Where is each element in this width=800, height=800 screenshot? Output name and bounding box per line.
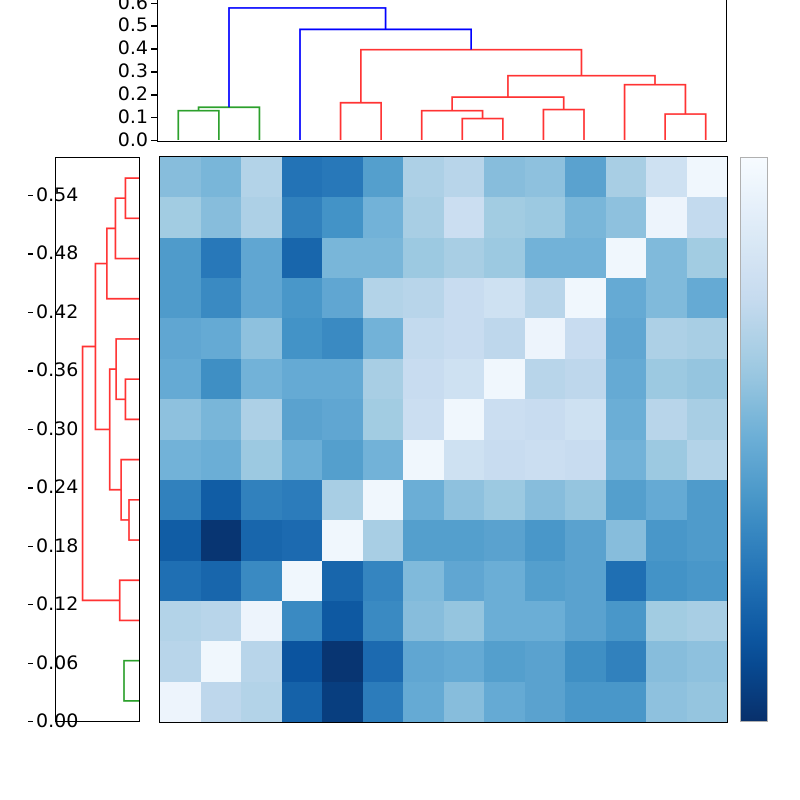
heatmap-cell <box>646 359 687 399</box>
heatmap-cell <box>484 601 525 641</box>
heatmap-cell <box>444 682 485 722</box>
heatmap-cell <box>403 318 444 358</box>
heatmap-cell <box>363 601 404 641</box>
heatmap-cell <box>525 601 566 641</box>
colorbar-tick-mark <box>28 721 33 722</box>
heatmap-cell <box>241 157 282 197</box>
heatmap-cell <box>646 561 687 601</box>
dendrogram-link <box>452 97 564 111</box>
heatmap-cell <box>322 641 363 681</box>
heatmap-cell <box>484 682 525 722</box>
heatmap-cell <box>403 359 444 399</box>
colorbar-tick-mark <box>28 487 33 488</box>
heatmap-cell <box>687 318 728 358</box>
heatmap-cell <box>484 399 525 439</box>
heatmap-cell <box>201 399 242 439</box>
dendrogram-link <box>125 178 139 218</box>
heatmap-cell <box>444 157 485 197</box>
heatmap-cell <box>444 359 485 399</box>
heatmap-cell <box>484 238 525 278</box>
dendrogram-link <box>124 661 139 701</box>
heatmap-cell <box>646 682 687 722</box>
colorbar-tick-label: 0.18 <box>36 536 78 557</box>
heatmap-cell <box>160 399 201 439</box>
column-dendrogram-canvas <box>158 0 726 141</box>
heatmap-cell <box>646 480 687 520</box>
colorbar-tick-label: 0.36 <box>36 360 78 381</box>
heatmap-cell <box>525 278 566 318</box>
clustermap-figure: 0.00.10.20.30.40.50.6 0.000.060.120.180.… <box>0 0 800 800</box>
heatmap-cell <box>646 601 687 641</box>
heatmap-cell <box>363 399 404 439</box>
heatmap-cell <box>160 641 201 681</box>
colorbar-tick-mark <box>28 429 33 430</box>
heatmap-cell <box>646 197 687 237</box>
heatmap-cell <box>322 359 363 399</box>
heatmap-cell <box>160 601 201 641</box>
colorbar <box>740 157 768 722</box>
heatmap-cell <box>565 440 606 480</box>
colorbar-tick-mark <box>28 604 33 605</box>
heatmap-cell <box>687 682 728 722</box>
colorbar-tick-label: 0.12 <box>36 594 78 615</box>
heatmap-cell <box>403 157 444 197</box>
heatmap-cell <box>403 238 444 278</box>
heatmap-cell <box>403 440 444 480</box>
heatmap-cell <box>687 197 728 237</box>
dendrogram-link <box>120 580 139 620</box>
colorbar-tick-mark <box>28 370 33 371</box>
dendrogram-link <box>341 103 382 140</box>
heatmap-cell <box>606 318 647 358</box>
heatmap-cell <box>565 359 606 399</box>
heatmap-cell <box>403 561 444 601</box>
heatmap-cell <box>565 157 606 197</box>
heatmap-cell <box>687 157 728 197</box>
heatmap-cell <box>322 480 363 520</box>
heatmap-cell <box>484 197 525 237</box>
dendrogram-link <box>115 198 139 258</box>
heatmap-cell <box>160 359 201 399</box>
heatmap-cell <box>363 197 404 237</box>
colorbar-tick-label: 0.54 <box>36 185 78 206</box>
colorbar-tick-mark <box>28 312 33 313</box>
heatmap-cell <box>201 440 242 480</box>
heatmap-cell <box>606 440 647 480</box>
heatmap-cell <box>646 440 687 480</box>
heatmap-cell <box>241 561 282 601</box>
col-axis-tick-label: 0.5 <box>118 14 148 37</box>
heatmap-cell <box>484 520 525 560</box>
heatmap-cell <box>201 318 242 358</box>
dendrogram-link <box>107 228 139 298</box>
heatmap-cell <box>201 480 242 520</box>
heatmap-cell <box>322 399 363 439</box>
dendrogram-link <box>121 460 139 520</box>
dendrogram-link <box>462 119 503 140</box>
heatmap-cell <box>363 480 404 520</box>
dendrogram-link <box>625 85 686 140</box>
heatmap-cell <box>201 157 242 197</box>
heatmap-cell <box>363 157 404 197</box>
heatmap-cell <box>687 520 728 560</box>
heatmap-cell <box>444 399 485 439</box>
heatmap-cell <box>606 359 647 399</box>
heatmap-cell <box>444 278 485 318</box>
heatmap-cell <box>484 157 525 197</box>
heatmap-cell <box>606 601 647 641</box>
heatmap-cell <box>241 641 282 681</box>
heatmap-cell <box>282 682 323 722</box>
heatmap-cell <box>525 561 566 601</box>
heatmap-cell <box>201 359 242 399</box>
heatmap-cell <box>525 520 566 560</box>
heatmap-cell <box>201 641 242 681</box>
heatmap-cell <box>363 641 404 681</box>
heatmap-cell <box>565 318 606 358</box>
heatmap-cell <box>525 157 566 197</box>
heatmap-cell <box>282 561 323 601</box>
dendrogram-link <box>665 114 706 140</box>
heatmap-cell <box>363 682 404 722</box>
heatmap-cell <box>322 561 363 601</box>
heatmap-cell <box>484 359 525 399</box>
heatmap-cell <box>444 480 485 520</box>
dendrogram-link <box>116 339 139 399</box>
colorbar-tick-label: 0.42 <box>36 302 78 323</box>
heatmap-cell <box>403 197 444 237</box>
colorbar-tick-mark <box>28 663 33 664</box>
heatmap-cell <box>282 157 323 197</box>
heatmap-cell <box>363 278 404 318</box>
heatmap-cell <box>606 682 647 722</box>
heatmap-cell <box>241 197 282 237</box>
heatmap-cell <box>606 641 647 681</box>
heatmap-cell <box>687 238 728 278</box>
heatmap-cell <box>687 601 728 641</box>
heatmap-cell <box>201 601 242 641</box>
heatmap-cell <box>403 480 444 520</box>
heatmap-cell <box>646 399 687 439</box>
colorbar-tick-label: 0.06 <box>36 653 78 674</box>
col-axis-tick-label: 0.0 <box>118 129 148 152</box>
colorbar-ticks: 0.000.060.120.180.240.300.360.420.480.54 <box>28 157 90 722</box>
heatmap-cell <box>525 238 566 278</box>
heatmap-cell <box>160 682 201 722</box>
heatmap-cell <box>241 440 282 480</box>
heatmap-cell <box>444 197 485 237</box>
heatmap-cell <box>282 278 323 318</box>
heatmap-cell <box>160 561 201 601</box>
heatmap-cell <box>160 238 201 278</box>
heatmap-cell <box>565 278 606 318</box>
heatmap-cell <box>282 440 323 480</box>
heatmap-cell <box>282 399 323 439</box>
heatmap-cell <box>444 520 485 560</box>
heatmap-cell <box>241 238 282 278</box>
heatmap-cell <box>241 399 282 439</box>
dendrogram-link <box>125 379 139 419</box>
heatmap-cell <box>160 318 201 358</box>
heatmap-cell <box>322 157 363 197</box>
heatmap-cell <box>525 440 566 480</box>
colorbar-tick-mark <box>28 195 33 196</box>
heatmap-cell <box>606 480 647 520</box>
colorbar-tick-mark <box>28 546 33 547</box>
heatmap-cell <box>565 399 606 439</box>
heatmap-cell <box>201 238 242 278</box>
heatmap-cell <box>282 238 323 278</box>
dendrogram-link <box>129 500 139 540</box>
heatmap-cell <box>201 520 242 560</box>
colorbar-tick-mark <box>28 253 33 254</box>
heatmap-cell <box>565 197 606 237</box>
heatmap-cell <box>282 601 323 641</box>
heatmap-cell <box>322 318 363 358</box>
heatmap-cell <box>282 359 323 399</box>
heatmap-cell <box>363 318 404 358</box>
heatmap-cell <box>241 480 282 520</box>
heatmap-cell <box>322 440 363 480</box>
heatmap-cell <box>282 641 323 681</box>
heatmap-cell <box>403 641 444 681</box>
heatmap-cell <box>241 359 282 399</box>
heatmap-cell <box>160 480 201 520</box>
heatmap-matrix[interactable] <box>159 156 728 723</box>
heatmap-grid <box>160 157 727 722</box>
heatmap-cell <box>160 440 201 480</box>
heatmap-cell <box>565 238 606 278</box>
heatmap-cell <box>525 318 566 358</box>
heatmap-cell <box>322 197 363 237</box>
heatmap-cell <box>525 480 566 520</box>
heatmap-cell <box>403 601 444 641</box>
heatmap-cell <box>282 318 323 358</box>
heatmap-cell <box>565 641 606 681</box>
heatmap-cell <box>201 278 242 318</box>
heatmap-cell <box>646 238 687 278</box>
heatmap-cell <box>403 278 444 318</box>
heatmap-cell <box>201 682 242 722</box>
heatmap-cell <box>201 561 242 601</box>
heatmap-cell <box>363 520 404 560</box>
heatmap-cell <box>565 561 606 601</box>
heatmap-cell <box>525 197 566 237</box>
heatmap-cell <box>282 197 323 237</box>
heatmap-cell <box>322 278 363 318</box>
heatmap-cell <box>241 318 282 358</box>
heatmap-cell <box>687 480 728 520</box>
heatmap-cell <box>484 480 525 520</box>
heatmap-cell <box>606 520 647 560</box>
heatmap-cell <box>444 641 485 681</box>
heatmap-cell <box>363 238 404 278</box>
heatmap-cell <box>363 561 404 601</box>
heatmap-cell <box>646 641 687 681</box>
heatmap-cell <box>403 399 444 439</box>
heatmap-cell <box>484 318 525 358</box>
heatmap-cell <box>484 440 525 480</box>
heatmap-cell <box>565 480 606 520</box>
heatmap-cell <box>606 278 647 318</box>
heatmap-cell <box>201 197 242 237</box>
heatmap-cell <box>687 278 728 318</box>
colorbar-tick-label: 0.48 <box>36 243 78 264</box>
heatmap-cell <box>525 641 566 681</box>
heatmap-cell <box>241 682 282 722</box>
col-axis-tick-label: 0.2 <box>118 83 148 106</box>
heatmap-cell <box>687 359 728 399</box>
heatmap-cell <box>646 520 687 560</box>
heatmap-cell <box>687 399 728 439</box>
dendrogram-link <box>508 76 655 97</box>
heatmap-cell <box>646 278 687 318</box>
heatmap-cell <box>322 520 363 560</box>
dendrogram-link <box>422 111 483 140</box>
heatmap-cell <box>687 641 728 681</box>
heatmap-cell <box>565 520 606 560</box>
colorbar-tick-label: 0.00 <box>36 711 78 732</box>
dendrogram-link <box>543 110 584 140</box>
heatmap-cell <box>525 359 566 399</box>
heatmap-cell <box>363 359 404 399</box>
heatmap-cell <box>565 682 606 722</box>
heatmap-cell <box>484 641 525 681</box>
col-axis-tick-label: 0.4 <box>118 37 148 60</box>
heatmap-cell <box>363 440 404 480</box>
heatmap-cell <box>646 157 687 197</box>
heatmap-cell <box>606 197 647 237</box>
col-axis-tick-label: 0.1 <box>118 106 148 129</box>
heatmap-cell <box>646 318 687 358</box>
heatmap-cell <box>160 520 201 560</box>
dendrogram-link <box>178 111 219 140</box>
heatmap-cell <box>403 682 444 722</box>
heatmap-cell <box>525 399 566 439</box>
heatmap-cell <box>241 601 282 641</box>
heatmap-cell <box>565 601 606 641</box>
column-dendrogram-axis: 0.00.10.20.30.40.50.6 <box>100 0 157 142</box>
heatmap-cell <box>606 561 647 601</box>
heatmap-cell <box>160 278 201 318</box>
heatmap-cell <box>160 197 201 237</box>
heatmap-cell <box>444 440 485 480</box>
colorbar-gradient <box>741 158 767 721</box>
heatmap-cell <box>241 278 282 318</box>
heatmap-cell <box>606 399 647 439</box>
heatmap-cell <box>241 520 282 560</box>
dendrogram-link <box>300 29 471 140</box>
col-axis-tick-label: 0.3 <box>118 60 148 83</box>
heatmap-cell <box>322 601 363 641</box>
heatmap-cell <box>444 561 485 601</box>
heatmap-cell <box>484 278 525 318</box>
heatmap-cell <box>322 238 363 278</box>
heatmap-cell <box>687 561 728 601</box>
column-dendrogram <box>157 0 727 142</box>
heatmap-cell <box>444 318 485 358</box>
heatmap-cell <box>160 157 201 197</box>
heatmap-cell <box>282 520 323 560</box>
colorbar-tick-label: 0.30 <box>36 419 78 440</box>
heatmap-cell <box>606 238 647 278</box>
col-axis-tick-label: 0.6 <box>118 0 148 15</box>
dendrogram-link <box>199 107 260 140</box>
colorbar-tick-label: 0.24 <box>36 477 78 498</box>
dendrogram-link <box>229 8 386 107</box>
heatmap-cell <box>484 561 525 601</box>
heatmap-cell <box>444 601 485 641</box>
heatmap-cell <box>322 682 363 722</box>
heatmap-cell <box>403 520 444 560</box>
heatmap-cell <box>282 480 323 520</box>
heatmap-cell <box>687 440 728 480</box>
heatmap-cell <box>525 682 566 722</box>
heatmap-cell <box>606 157 647 197</box>
heatmap-cell <box>444 238 485 278</box>
